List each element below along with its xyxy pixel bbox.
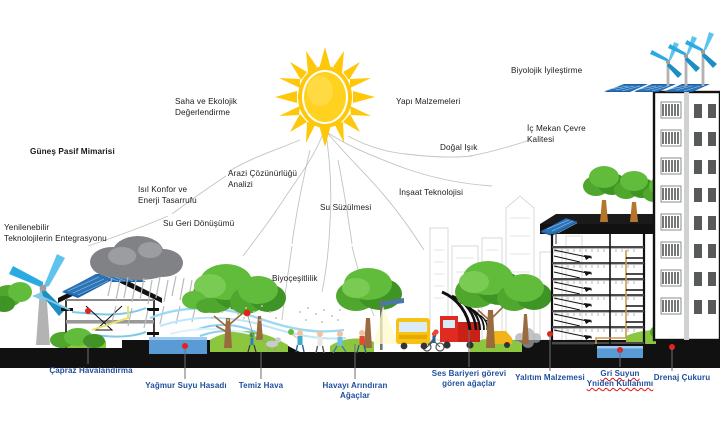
ground	[0, 330, 720, 368]
shrubs-left	[50, 328, 105, 348]
label-dogal-isik: Doğal Işık	[440, 143, 477, 154]
solar-panels-left	[62, 274, 146, 298]
label-havayi-arindiran-agaclar: Havayı Arındıran Ağaçlar	[309, 381, 401, 401]
solar-panel-section	[540, 218, 578, 244]
road-vehicles	[396, 316, 541, 349]
drainage-pit	[650, 321, 699, 350]
label-saha-ve-ekolojik-degerlendirme: Saha ve Ekolojik Değerlendirme	[175, 97, 237, 118]
label-ic-mekan-cevre-kalitesi: İç Mekan Çevre Kalitesi	[527, 124, 586, 145]
people-group	[244, 310, 444, 353]
greywater-tank	[594, 344, 646, 360]
label-yagmur-suyu-hasadi: Yağmur Suyu Hasadı	[133, 381, 239, 391]
connector-lines	[0, 0, 720, 427]
label-yapi-malzemeleri: Yapı Malzemeleri	[396, 97, 460, 108]
truck	[440, 316, 480, 349]
label-biyolojik-iyilestirme: Biyolojik İyileştirme	[511, 66, 582, 77]
label-drenaj-cukuru: Drenaj Çukuru	[643, 373, 720, 383]
bus	[396, 318, 430, 349]
label-temiz-hava: Temiz Hava	[228, 381, 294, 391]
roof-garden-trees	[583, 166, 679, 222]
car	[486, 331, 512, 348]
label-capraz-havalandirma: Çapraz Havalandırma	[36, 366, 146, 376]
label-arazi-cozunurlugu-analizi: Arazi Çözünürlüğü Analizi	[228, 169, 297, 190]
drainage-shrubs	[650, 321, 699, 339]
stream	[150, 308, 346, 338]
rain-cloud-icon	[90, 236, 200, 328]
tree-group-noise-barrier	[455, 261, 552, 348]
label-isil-konfor-ve-enerji-tasarrufu: Isıl Konfor ve Enerji Tasarrufu	[138, 185, 197, 206]
tree-group-center	[336, 268, 402, 348]
label-gunes-pasif-mimarisi: Güneş Pasif Mimarisi	[30, 147, 115, 158]
label-su-suzulmesi: Su Süzülmesi	[320, 203, 371, 214]
label-yenilenebilir-teknolojilerin-entegrasyonu: Yenilenebilir Teknolojilerin Entegrasyon…	[4, 223, 107, 244]
section-building	[540, 166, 700, 352]
scene-artwork	[0, 0, 720, 427]
bottom-leader-lines	[0, 0, 720, 427]
label-su-geri-donusumu: Su Geri Dönüşümü	[163, 219, 234, 230]
air-particles	[205, 305, 341, 323]
shrubs-right-edge	[182, 291, 216, 313]
cross-ventilation-building	[32, 272, 162, 348]
wind-turbines-roof	[650, 32, 717, 86]
rainwater-basin	[146, 325, 262, 358]
tall-building	[604, 32, 720, 340]
solar-panels-roof	[604, 84, 710, 92]
sound-waves	[442, 292, 491, 330]
label-insaat-teknolojisi: İnşaat Teknolojisi	[399, 188, 463, 199]
label-biyocesitlilik: Biyoçeşitlilik	[272, 274, 318, 285]
infographic-canvas: Güneş Pasif Mimarisi Saha ve Ekolojik De…	[0, 0, 720, 427]
shrub-far-left-tree	[0, 282, 32, 312]
street-light	[374, 298, 404, 350]
sun-icon	[0, 0, 720, 427]
wind-turbine-left	[9, 254, 65, 345]
background-skyline	[0, 0, 720, 427]
